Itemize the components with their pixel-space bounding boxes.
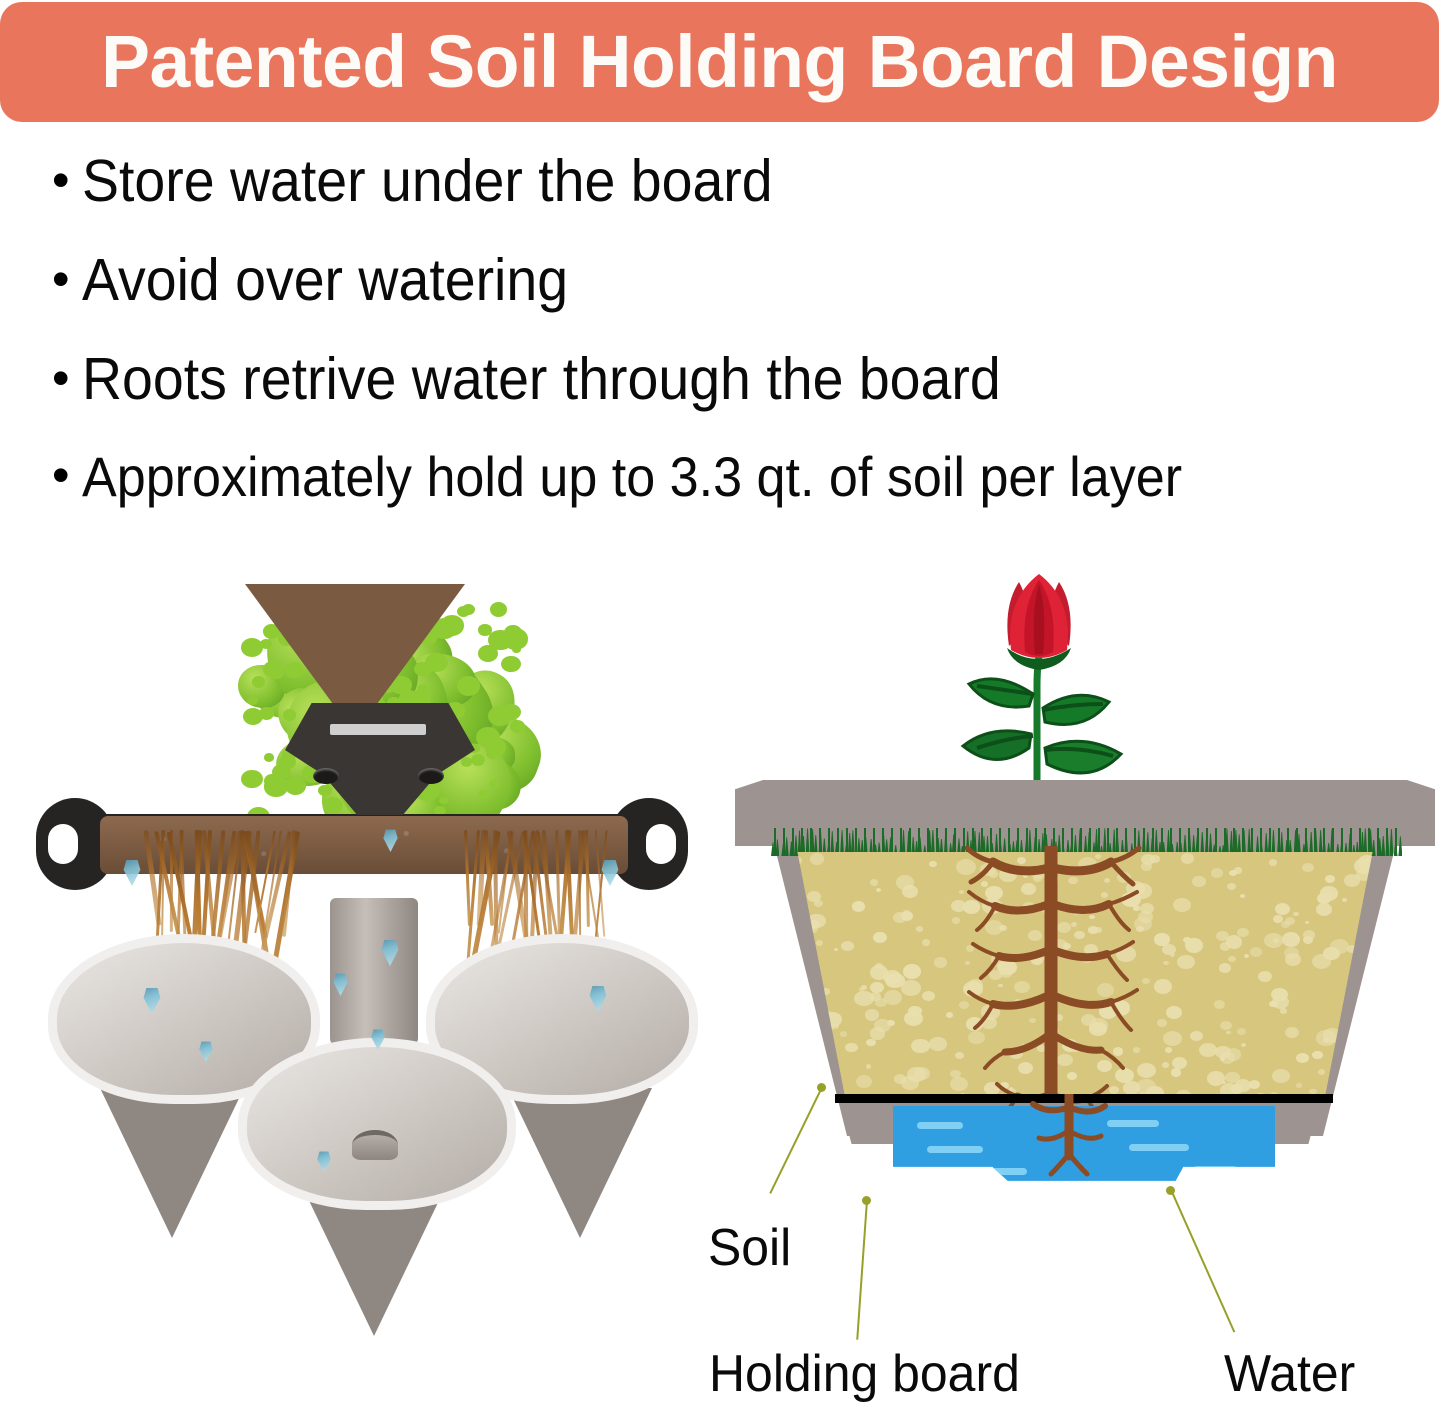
feature-list: • Store water under the board • Avoid ov… bbox=[52, 152, 1442, 548]
callout-label-water: Water bbox=[1224, 1348, 1355, 1400]
board-left-notch bbox=[48, 824, 78, 864]
board-right-notch bbox=[646, 824, 676, 864]
header-banner: Patented Soil Holding Board Design bbox=[0, 2, 1439, 122]
bullet-icon: • bbox=[52, 155, 82, 205]
planter-cone-right bbox=[508, 1088, 652, 1238]
list-item: • Roots retrive water through the board bbox=[52, 350, 1442, 449]
callout-label-soil: Soil bbox=[708, 1222, 791, 1274]
drain-spout bbox=[352, 1130, 398, 1160]
board-slot bbox=[330, 724, 426, 735]
list-item: • Avoid over watering bbox=[52, 251, 1442, 350]
planter-lobe-front bbox=[238, 1038, 516, 1210]
submerged-root-icon bbox=[1007, 1094, 1137, 1180]
board-hole-left bbox=[313, 768, 339, 784]
feature-text: Avoid over watering bbox=[82, 251, 568, 310]
board-hole-right bbox=[418, 768, 444, 784]
feature-text: Roots retrive water through the board bbox=[82, 350, 1001, 409]
bullet-icon: • bbox=[52, 353, 82, 403]
tiered-planter bbox=[30, 888, 720, 1378]
center-water-tube bbox=[330, 898, 418, 1048]
planter-cone-left bbox=[100, 1088, 244, 1238]
list-item: • Store water under the board bbox=[52, 152, 1442, 251]
rose-flower-icon bbox=[925, 566, 1155, 816]
bullet-icon: • bbox=[52, 450, 82, 500]
callout-label-holding-board: Holding board bbox=[709, 1348, 1020, 1400]
feature-text: Store water under the board bbox=[82, 152, 773, 211]
water-wave bbox=[917, 1122, 963, 1129]
infographic-page: Patented Soil Holding Board Design • Sto… bbox=[0, 0, 1445, 1409]
bullet-icon: • bbox=[52, 254, 82, 304]
water-wave bbox=[1129, 1144, 1189, 1151]
stackable-planter-photo bbox=[30, 528, 720, 1378]
page-title: Patented Soil Holding Board Design bbox=[7, 25, 1432, 99]
feature-text: Approximately hold up to 3.3 qt. of soil… bbox=[82, 449, 1182, 505]
cross-section-diagram bbox=[715, 528, 1445, 1409]
water-wave bbox=[927, 1146, 983, 1153]
root-system-icon bbox=[947, 846, 1157, 1114]
water-wave bbox=[1193, 1166, 1237, 1173]
